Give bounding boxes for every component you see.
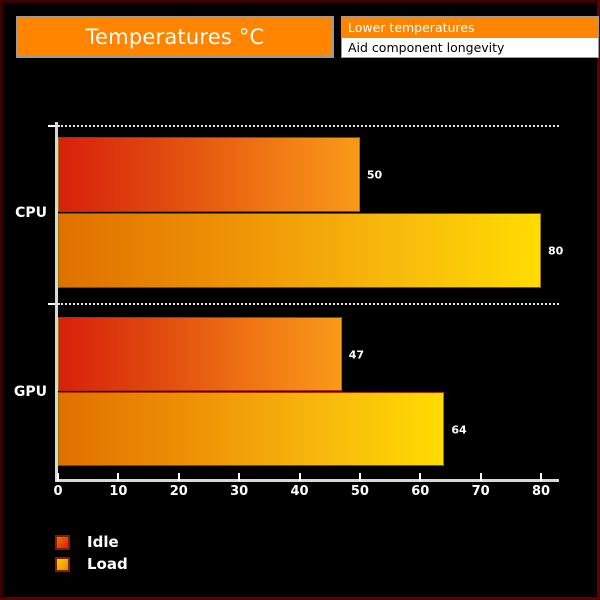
x-axis-tick <box>480 473 482 481</box>
x-axis-tick <box>117 473 119 481</box>
x-axis-tick-label: 50 <box>351 484 369 499</box>
x-axis-tick-label: 70 <box>472 484 490 499</box>
bar-cpu-load <box>58 213 541 288</box>
legend-item-idle: Idle <box>55 531 128 553</box>
x-axis-tick <box>419 473 421 481</box>
x-axis-tick <box>299 473 301 481</box>
x-axis-tick <box>178 473 180 481</box>
x-axis-tick <box>540 473 542 481</box>
legend: Idle Load <box>55 531 128 575</box>
x-axis-tick <box>238 473 240 481</box>
legend-label-idle: Idle <box>87 533 119 551</box>
x-axis-tick-label: 40 <box>290 484 308 499</box>
gridline <box>58 125 559 127</box>
bar-value-cpu-load: 80 <box>548 245 563 258</box>
x-axis-tick-label: 30 <box>230 484 248 499</box>
x-axis-tick-label: 10 <box>109 484 127 499</box>
bar-cpu-idle <box>58 137 360 212</box>
bar-value-cpu-idle: 50 <box>367 169 382 182</box>
legend-label-load: Load <box>87 555 128 573</box>
x-axis-tick <box>57 473 59 481</box>
x-axis-line <box>55 479 559 482</box>
x-axis-tick <box>359 473 361 481</box>
x-axis-tick-label: 60 <box>411 484 429 499</box>
category-label-gpu: GPU <box>3 384 47 400</box>
legend-item-load: Load <box>55 553 128 575</box>
legend-swatch-idle-icon <box>55 535 70 550</box>
bar-gpu-idle <box>58 317 342 391</box>
bar-gpu-load <box>58 392 444 466</box>
category-label-cpu: CPU <box>3 205 47 221</box>
bar-value-gpu-idle: 47 <box>349 348 364 361</box>
x-axis-tick-label: 20 <box>170 484 188 499</box>
bar-value-gpu-load: 64 <box>451 423 466 436</box>
x-axis-tick-label: 0 <box>53 484 62 499</box>
x-axis-tick-label: 80 <box>532 484 550 499</box>
gridline <box>58 303 559 305</box>
legend-swatch-load-icon <box>55 557 70 572</box>
bar-chart: 01020304050607080 CPUGPU 50804764 <box>3 3 597 597</box>
chart-page: Temperatures °C Lower temperatures Aid c… <box>0 0 600 600</box>
